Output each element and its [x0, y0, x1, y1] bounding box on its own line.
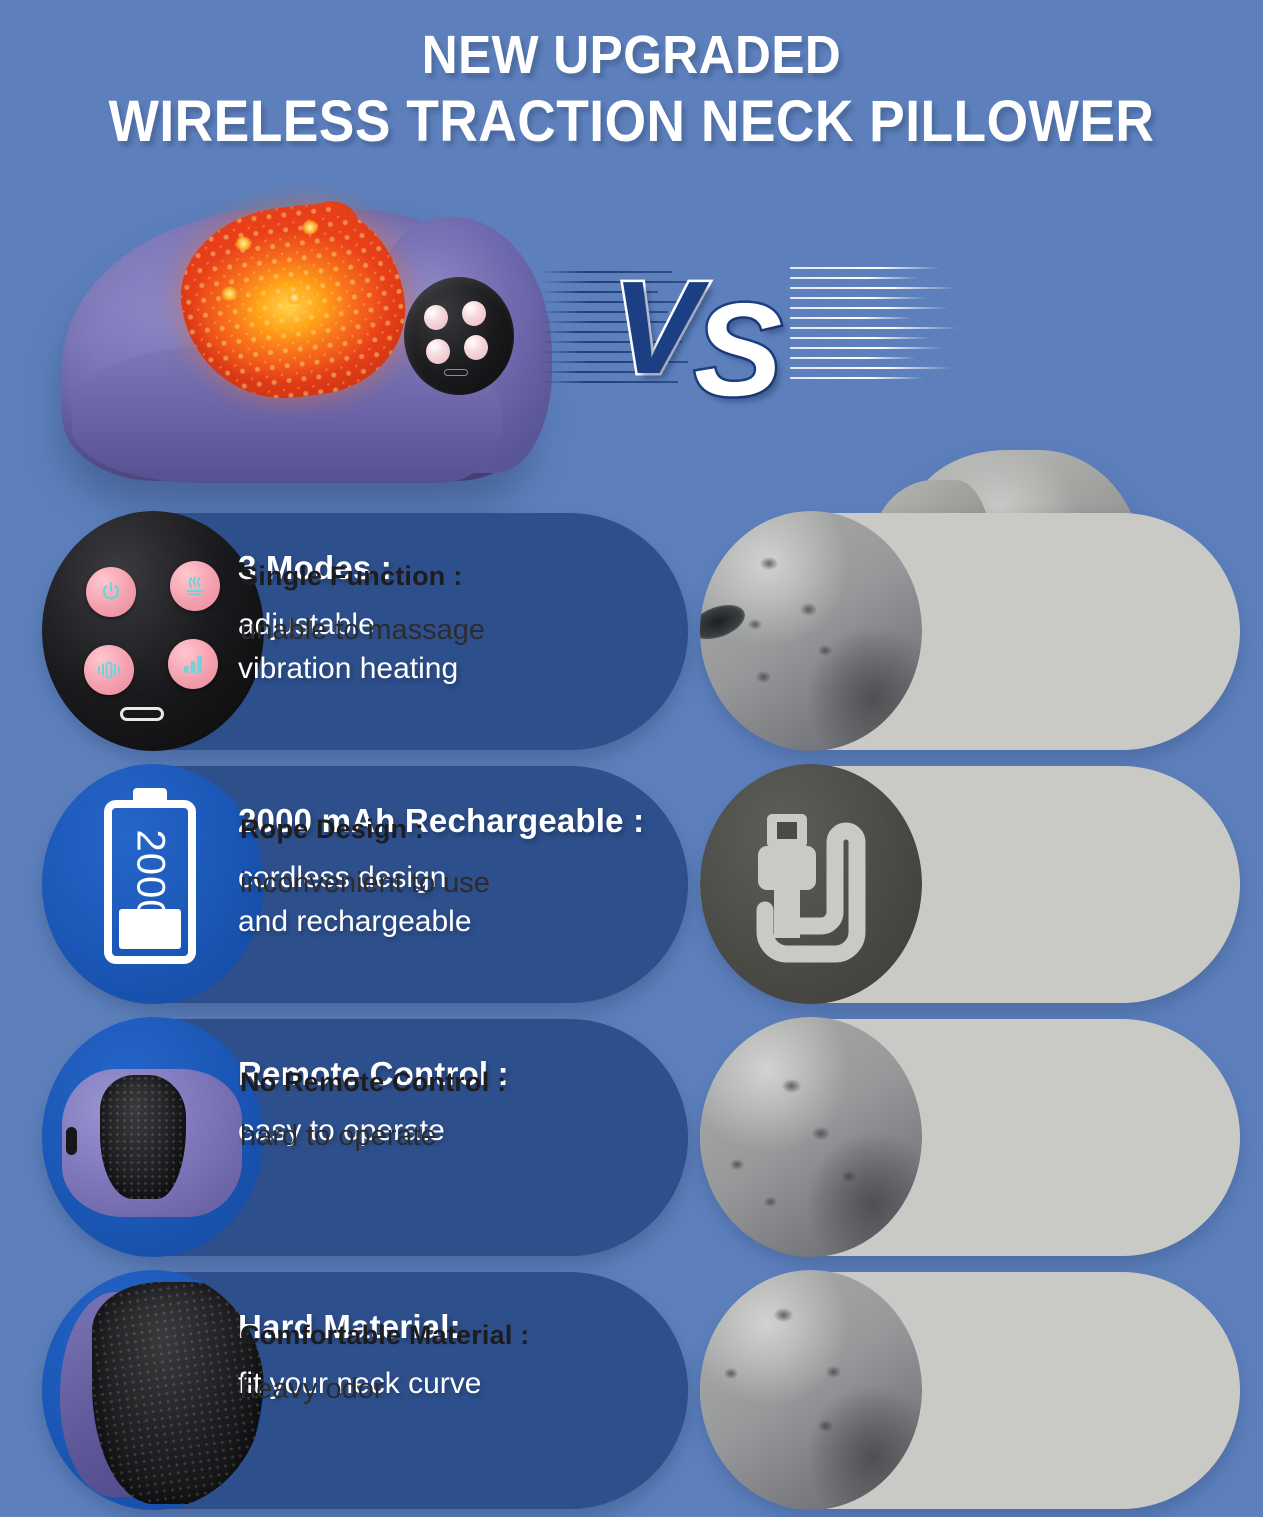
usb-c-port-icon — [120, 707, 164, 721]
con-body: inconvenient to use — [240, 867, 1239, 900]
battery-icon-media: 2000 — [42, 764, 264, 1004]
con-heading: Comfortable Material : — [240, 1320, 1239, 1351]
mesh-fabric-thumbnail — [60, 1282, 264, 1507]
vibration-button-icon — [426, 339, 450, 364]
battery-capacity-label: 2000 — [128, 830, 173, 923]
feature-row: 3 Modes : adjustable vibration heating S… — [0, 505, 1263, 758]
title-line-2: WIRELESS TRACTION NECK PILLOWER — [51, 88, 1213, 156]
con-body: unable to massage — [240, 614, 1239, 647]
pillow-port — [66, 1127, 77, 1155]
control-pad-photo — [42, 511, 264, 751]
power-button-icon — [424, 305, 448, 330]
competitor-bump — [756, 671, 771, 683]
vs-badge: V S — [612, 262, 822, 392]
battery-cap — [133, 788, 167, 801]
heat-button-icon — [462, 301, 486, 326]
con-text-block: Comfortable Material : heavy odor — [240, 1320, 1239, 1406]
feature-comparison-rows: 3 Modes : adjustable vibration heating S… — [0, 505, 1263, 1517]
pillow-mesh-panel — [100, 1075, 186, 1199]
con-text-block: No Remote Control : hard to operate — [240, 1067, 1239, 1153]
con-text-block: Rope Design : inconvenient to use — [240, 814, 1239, 900]
vs-letter-s: S — [694, 284, 778, 416]
con-heading: Single Function : — [240, 561, 1239, 592]
level-button-icon — [168, 639, 218, 689]
con-heading: Rope Design : — [240, 814, 1239, 845]
con-body: hard to operate — [240, 1120, 1239, 1153]
title-line-1: NEW UPGRADED — [51, 24, 1213, 88]
competitor-bump — [764, 1197, 777, 1207]
hero-control-pad — [404, 277, 514, 395]
level-button-icon — [464, 335, 488, 360]
competitor-bump — [730, 1159, 744, 1170]
product-image-neck-pillow — [62, 195, 562, 495]
competitor-bump — [818, 1420, 833, 1432]
con-body: heavy odor — [240, 1373, 1239, 1406]
con-text-block: Single Function : unable to massage — [240, 561, 1239, 647]
feature-row: Hard Material: fit your neck curve Comfo… — [0, 1264, 1263, 1517]
page-title: NEW UPGRADED WIRELESS TRACTION NECK PILL… — [0, 24, 1263, 156]
battery-icon: 2000 — [104, 800, 196, 964]
pillow-thumbnail — [62, 1069, 242, 1217]
heating-mesh-panel — [171, 194, 415, 410]
vibration-button-icon — [84, 645, 134, 695]
mesh-fabric-media — [42, 1270, 264, 1510]
pillow-photo-media — [42, 1017, 264, 1257]
feature-row: Remote Control : easy to operate No Remo… — [0, 1011, 1263, 1264]
power-button-icon — [86, 567, 136, 617]
heat-button-icon — [170, 561, 220, 611]
usb-c-port-icon — [444, 369, 468, 376]
feature-row: 2000 2000 mAh Rechargeable : cordless de… — [0, 758, 1263, 1011]
con-heading: No Remote Control : — [240, 1067, 1239, 1098]
vs-letter-v: V — [612, 262, 696, 394]
competitor-bump — [842, 1171, 856, 1182]
